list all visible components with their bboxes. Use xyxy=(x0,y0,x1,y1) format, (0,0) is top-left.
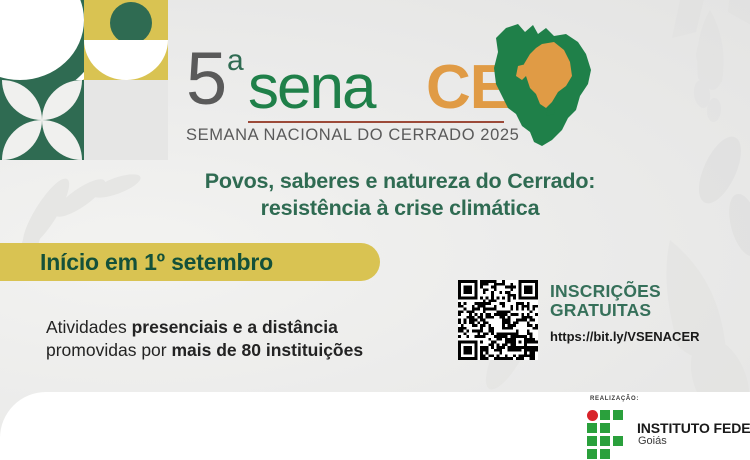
edition-number: 5 xyxy=(186,42,227,116)
activities-line-2-bold: mais de 80 instituições xyxy=(171,340,363,360)
activities-line-2: promovidas por mais de 80 instituições xyxy=(46,339,446,362)
registration-heading-line-2: GRATUITAS xyxy=(550,301,730,320)
registration-block: INSCRIÇÕES GRATUITAS https://bit.ly/VSEN… xyxy=(458,280,730,366)
logo-sena: sena xyxy=(248,57,374,119)
registration-heading: INSCRIÇÕES GRATUITAS xyxy=(550,282,730,320)
realization-label: REALIZAÇÃO: xyxy=(590,396,639,402)
institution-campus: Goiás xyxy=(638,435,667,447)
activities-line-1-bold: presenciais e a distância xyxy=(132,317,338,337)
logo-underline xyxy=(248,121,504,123)
registration-url[interactable]: https://bit.ly/VSENACER xyxy=(550,329,730,344)
if-mark-icon xyxy=(587,410,633,452)
pattern-tile-plain xyxy=(84,80,168,160)
registration-heading-line-1: INSCRIÇÕES xyxy=(550,282,730,301)
event-subtitle: SEMANA NACIONAL DO CERRADO 2025 xyxy=(186,126,519,145)
page-title: Povos, saberes e natureza do Cerrado: re… xyxy=(0,168,750,222)
activities-description: Atividades presenciais e a distância pro… xyxy=(46,316,446,362)
headline-line-1: Povos, saberes e natureza do Cerrado: xyxy=(0,168,750,195)
geometric-pattern-icon xyxy=(0,0,168,160)
instituto-federal-logo-icon: REALIZAÇÃO: INSTITUTO FEDERAL Goiás xyxy=(585,396,745,454)
qr-code-icon[interactable] xyxy=(458,280,538,360)
edition-ordinal: a xyxy=(227,46,244,76)
pattern-tile-circle xyxy=(84,0,168,80)
start-date-badge: Início em 1º setembro xyxy=(0,243,380,281)
activities-line-1: Atividades presenciais e a distância xyxy=(46,316,446,339)
institution-name: INSTITUTO FEDERAL xyxy=(637,420,750,436)
senacer-logo: 5 a sena CER SEMANA NACIONAL DO CERRADO … xyxy=(186,48,516,143)
pattern-tile-arcs xyxy=(0,0,84,80)
pattern-tile-petals xyxy=(0,80,84,160)
botanical-watermark-icon xyxy=(610,0,750,160)
event-banner: 5 a sena CER SEMANA NACIONAL DO CERRADO … xyxy=(0,0,750,460)
start-date-label: Início em 1º setembro xyxy=(40,250,273,274)
activities-line-2-regular: promovidas por xyxy=(46,340,171,360)
brazil-map-cerrado-icon xyxy=(492,22,612,148)
registration-text: INSCRIÇÕES GRATUITAS https://bit.ly/VSEN… xyxy=(550,282,730,344)
activities-line-1-regular: Atividades xyxy=(46,317,132,337)
headline-line-2: resistência à crise climática xyxy=(0,195,750,222)
